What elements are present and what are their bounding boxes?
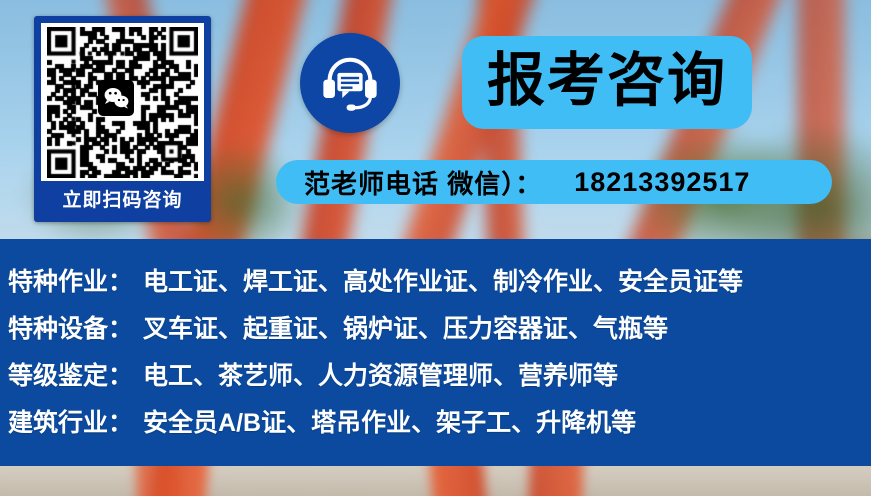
category-name: 特种作业： bbox=[8, 268, 133, 296]
certification-banner: 特种作业：电工证、焊工证、高处作业证、制冷作业、安全员证等 特种设备：叉车证、起… bbox=[0, 239, 871, 466]
wechat-logo bbox=[98, 80, 134, 116]
list-item: 特种设备：叉车证、起重证、锅炉证、压力容器证、气瓶等 bbox=[8, 306, 871, 353]
title-text: 报考咨询 bbox=[487, 52, 727, 110]
category-name: 等级鉴定： bbox=[8, 362, 133, 390]
phone-number[interactable]: 18213392517 bbox=[574, 167, 750, 198]
title-pill[interactable]: 报考咨询 bbox=[462, 36, 752, 129]
headset-support-icon bbox=[319, 52, 381, 114]
qr-code-image[interactable] bbox=[41, 23, 204, 181]
category-items: 电工证、焊工证、高处作业证、制冷作业、安全员证等 bbox=[143, 268, 743, 296]
bottom-photo-image bbox=[0, 466, 871, 496]
phone-label: 范老师电话 微信）： bbox=[304, 164, 542, 201]
category-items: 叉车证、起重证、锅炉证、压力容器证、气瓶等 bbox=[143, 315, 668, 343]
qr-code-card[interactable]: 立即扫码咨询 bbox=[34, 16, 211, 222]
certification-list: 特种作业：电工证、焊工证、高处作业证、制冷作业、安全员证等 特种设备：叉车证、起… bbox=[0, 239, 871, 447]
category-items: 电工、茶艺师、人力资源管理师、营养师等 bbox=[143, 362, 618, 390]
category-items: 安全员A/B证、塔吊作业、架子工、升降机等 bbox=[143, 409, 636, 437]
promo-poster: 立即扫码咨询 报考咨询 范老师电话 微信）： 18213392517 bbox=[0, 0, 871, 496]
phone-pill[interactable]: 范老师电话 微信）： 18213392517 bbox=[276, 160, 832, 204]
qr-code-caption: 立即扫码咨询 bbox=[41, 181, 204, 222]
category-name: 特种设备： bbox=[8, 315, 133, 343]
list-item: 建筑行业：安全员A/B证、塔吊作业、架子工、升降机等 bbox=[8, 400, 871, 447]
list-item: 等级鉴定：电工、茶艺师、人力资源管理师、营养师等 bbox=[8, 353, 871, 400]
headset-support-badge[interactable] bbox=[300, 33, 400, 133]
category-name: 建筑行业： bbox=[8, 409, 133, 437]
bottom-photo-strip bbox=[0, 466, 871, 496]
list-item: 特种作业：电工证、焊工证、高处作业证、制冷作业、安全员证等 bbox=[8, 259, 871, 306]
